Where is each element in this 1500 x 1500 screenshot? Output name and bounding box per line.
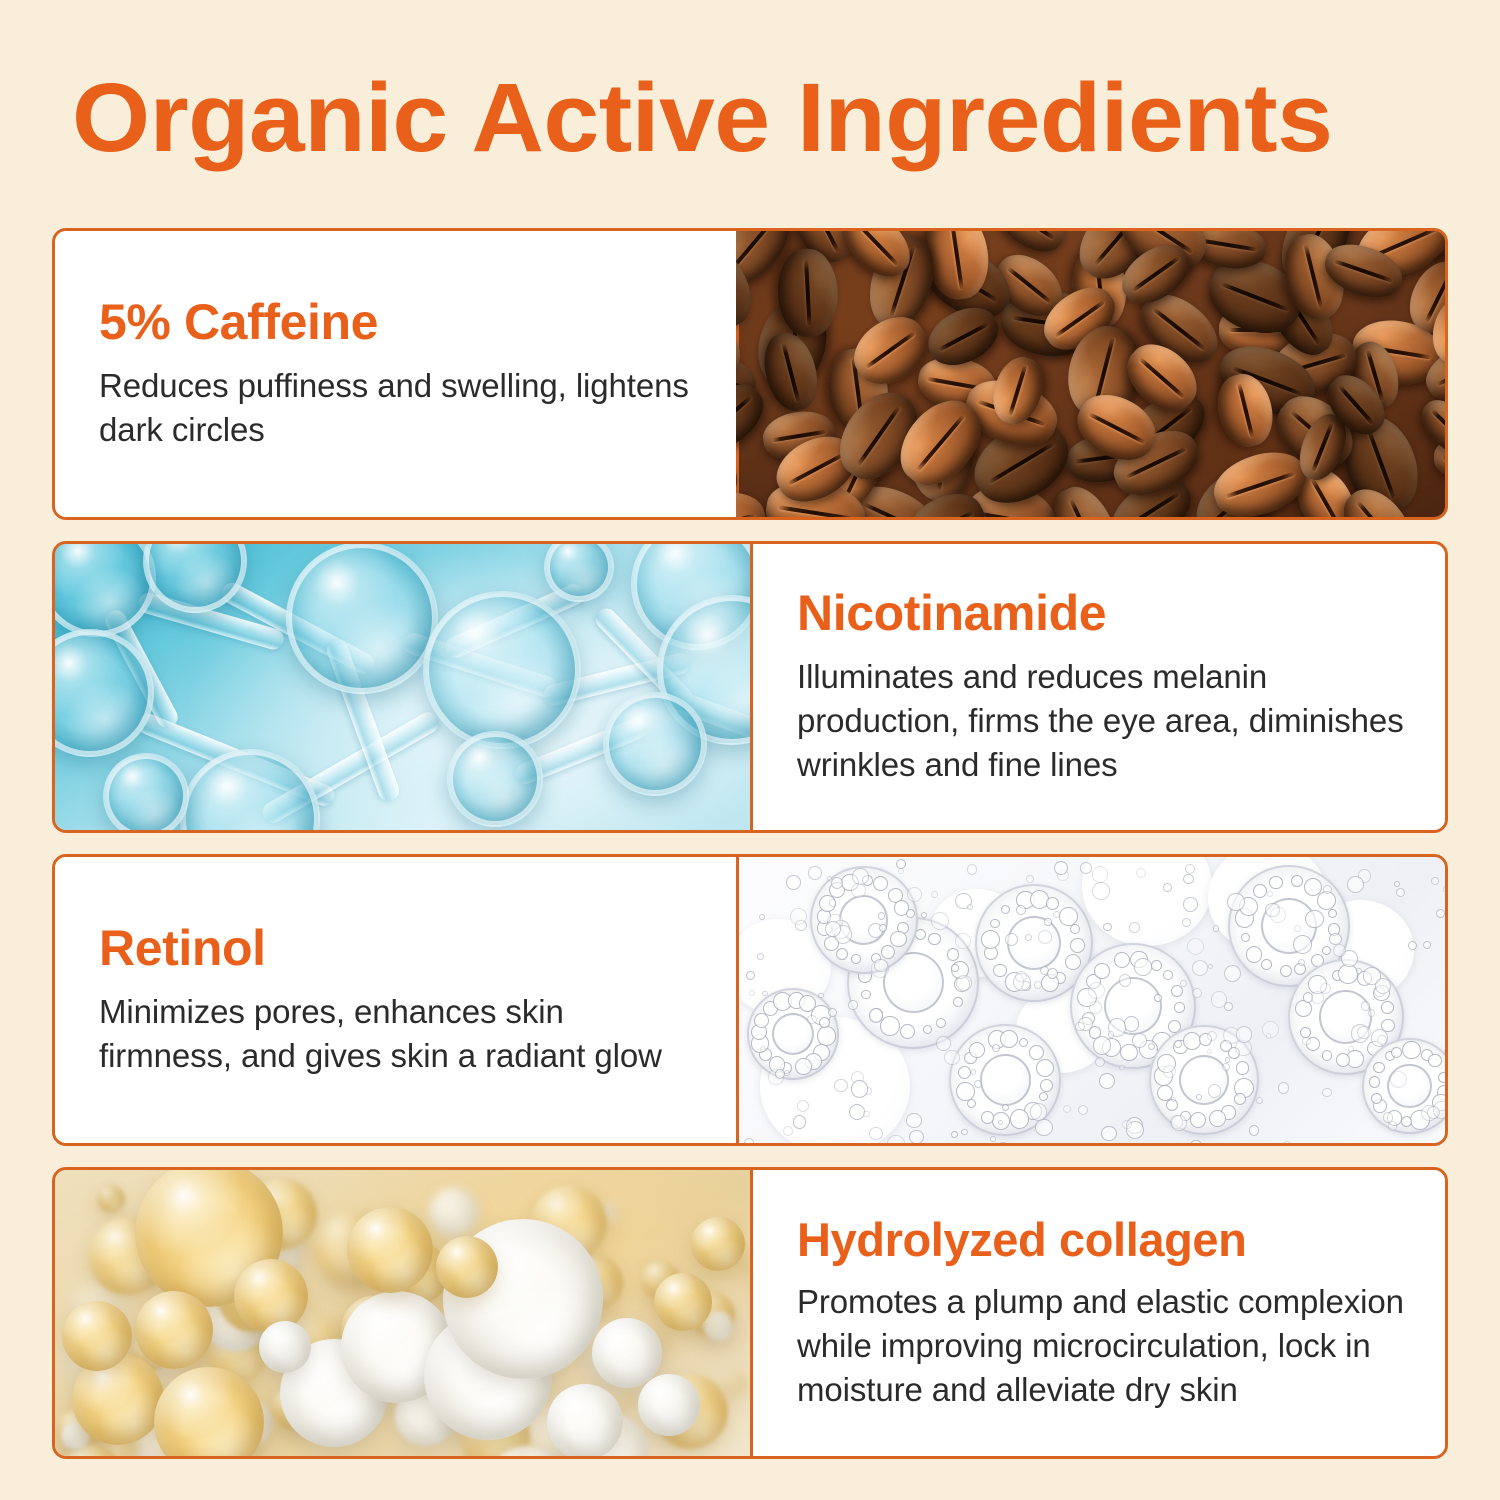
ingredient-card-nicotinamide: Nicotinamide Illuminates and reduces mel… — [52, 541, 1448, 833]
caffeine-heading: 5% Caffeine — [99, 296, 696, 349]
ingredient-card-collagen: Hydrolyzed collagen Promotes a plump and… — [52, 1167, 1448, 1459]
caffeine-description: Reduces puffiness and swelling, lightens… — [99, 364, 696, 452]
nicotinamide-description: Illuminates and reduces melanin producti… — [797, 655, 1405, 787]
collagen-heading: Hydrolyzed collagen — [797, 1215, 1405, 1264]
retinol-text-panel: Retinol Minimizes pores, enhances skin f… — [55, 857, 736, 1143]
infographic-page: Organic Active Ingredients 5% Caffeine R… — [0, 0, 1500, 1500]
retinol-heading: Retinol — [99, 922, 696, 975]
retinol-description: Minimizes pores, enhances skin firmness,… — [99, 990, 696, 1078]
collagen-description: Promotes a plump and elastic complexion … — [797, 1280, 1405, 1412]
nicotinamide-text-panel: Nicotinamide Illuminates and reduces mel… — [753, 544, 1445, 830]
nicotinamide-heading: Nicotinamide — [797, 587, 1405, 640]
caffeine-text-panel: 5% Caffeine Reduces puffiness and swelli… — [55, 231, 736, 517]
molecule-image — [55, 544, 753, 830]
ingredient-card-retinol: Retinol Minimizes pores, enhances skin f… — [52, 854, 1448, 1146]
foam-bubbles-image — [736, 857, 1445, 1143]
golden-bubbles-image — [55, 1170, 753, 1456]
coffee-beans-image — [736, 231, 1445, 517]
ingredient-card-caffeine: 5% Caffeine Reduces puffiness and swelli… — [52, 228, 1448, 520]
collagen-text-panel: Hydrolyzed collagen Promotes a plump and… — [753, 1170, 1445, 1456]
page-title: Organic Active Ingredients — [72, 62, 1480, 174]
